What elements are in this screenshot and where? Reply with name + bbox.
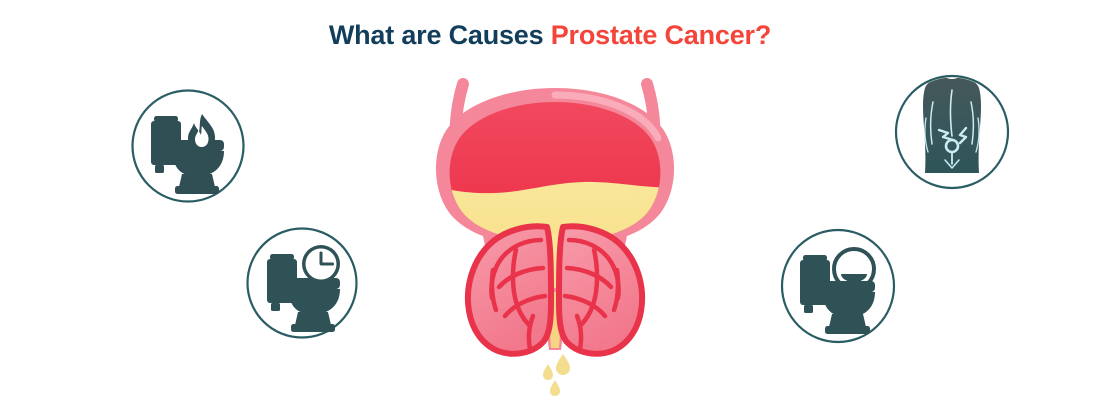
page-title-primary: What are Causes: [329, 20, 551, 50]
anatomy-svg: [415, 62, 695, 400]
toilet-clock-icon: [245, 226, 359, 340]
toilet-open-seat-icon: [778, 226, 898, 346]
prostate-lobe-right: [559, 226, 642, 353]
icon-badge-difficulty-urinating[interactable]: [778, 226, 898, 346]
page-title: What are Causes Prostate Cancer?: [0, 22, 1100, 49]
toilet-flame-icon: [130, 88, 246, 204]
page-title-highlight: Prostate Cancer?: [551, 20, 771, 50]
icon-badge-back-pain[interactable]: [892, 72, 1012, 192]
bladder-prostate-illustration: [415, 62, 695, 400]
infographic-canvas: What are Causes Prostate Cancer?: [0, 0, 1100, 400]
icon-badge-frequent-urination[interactable]: [245, 226, 359, 340]
prostate-lobe-left: [468, 226, 551, 353]
clock-icon: [302, 245, 340, 283]
back-pain-icon: [892, 72, 1012, 192]
icon-badge-burning-urination[interactable]: [130, 88, 246, 204]
urine-droplets: [543, 354, 570, 396]
